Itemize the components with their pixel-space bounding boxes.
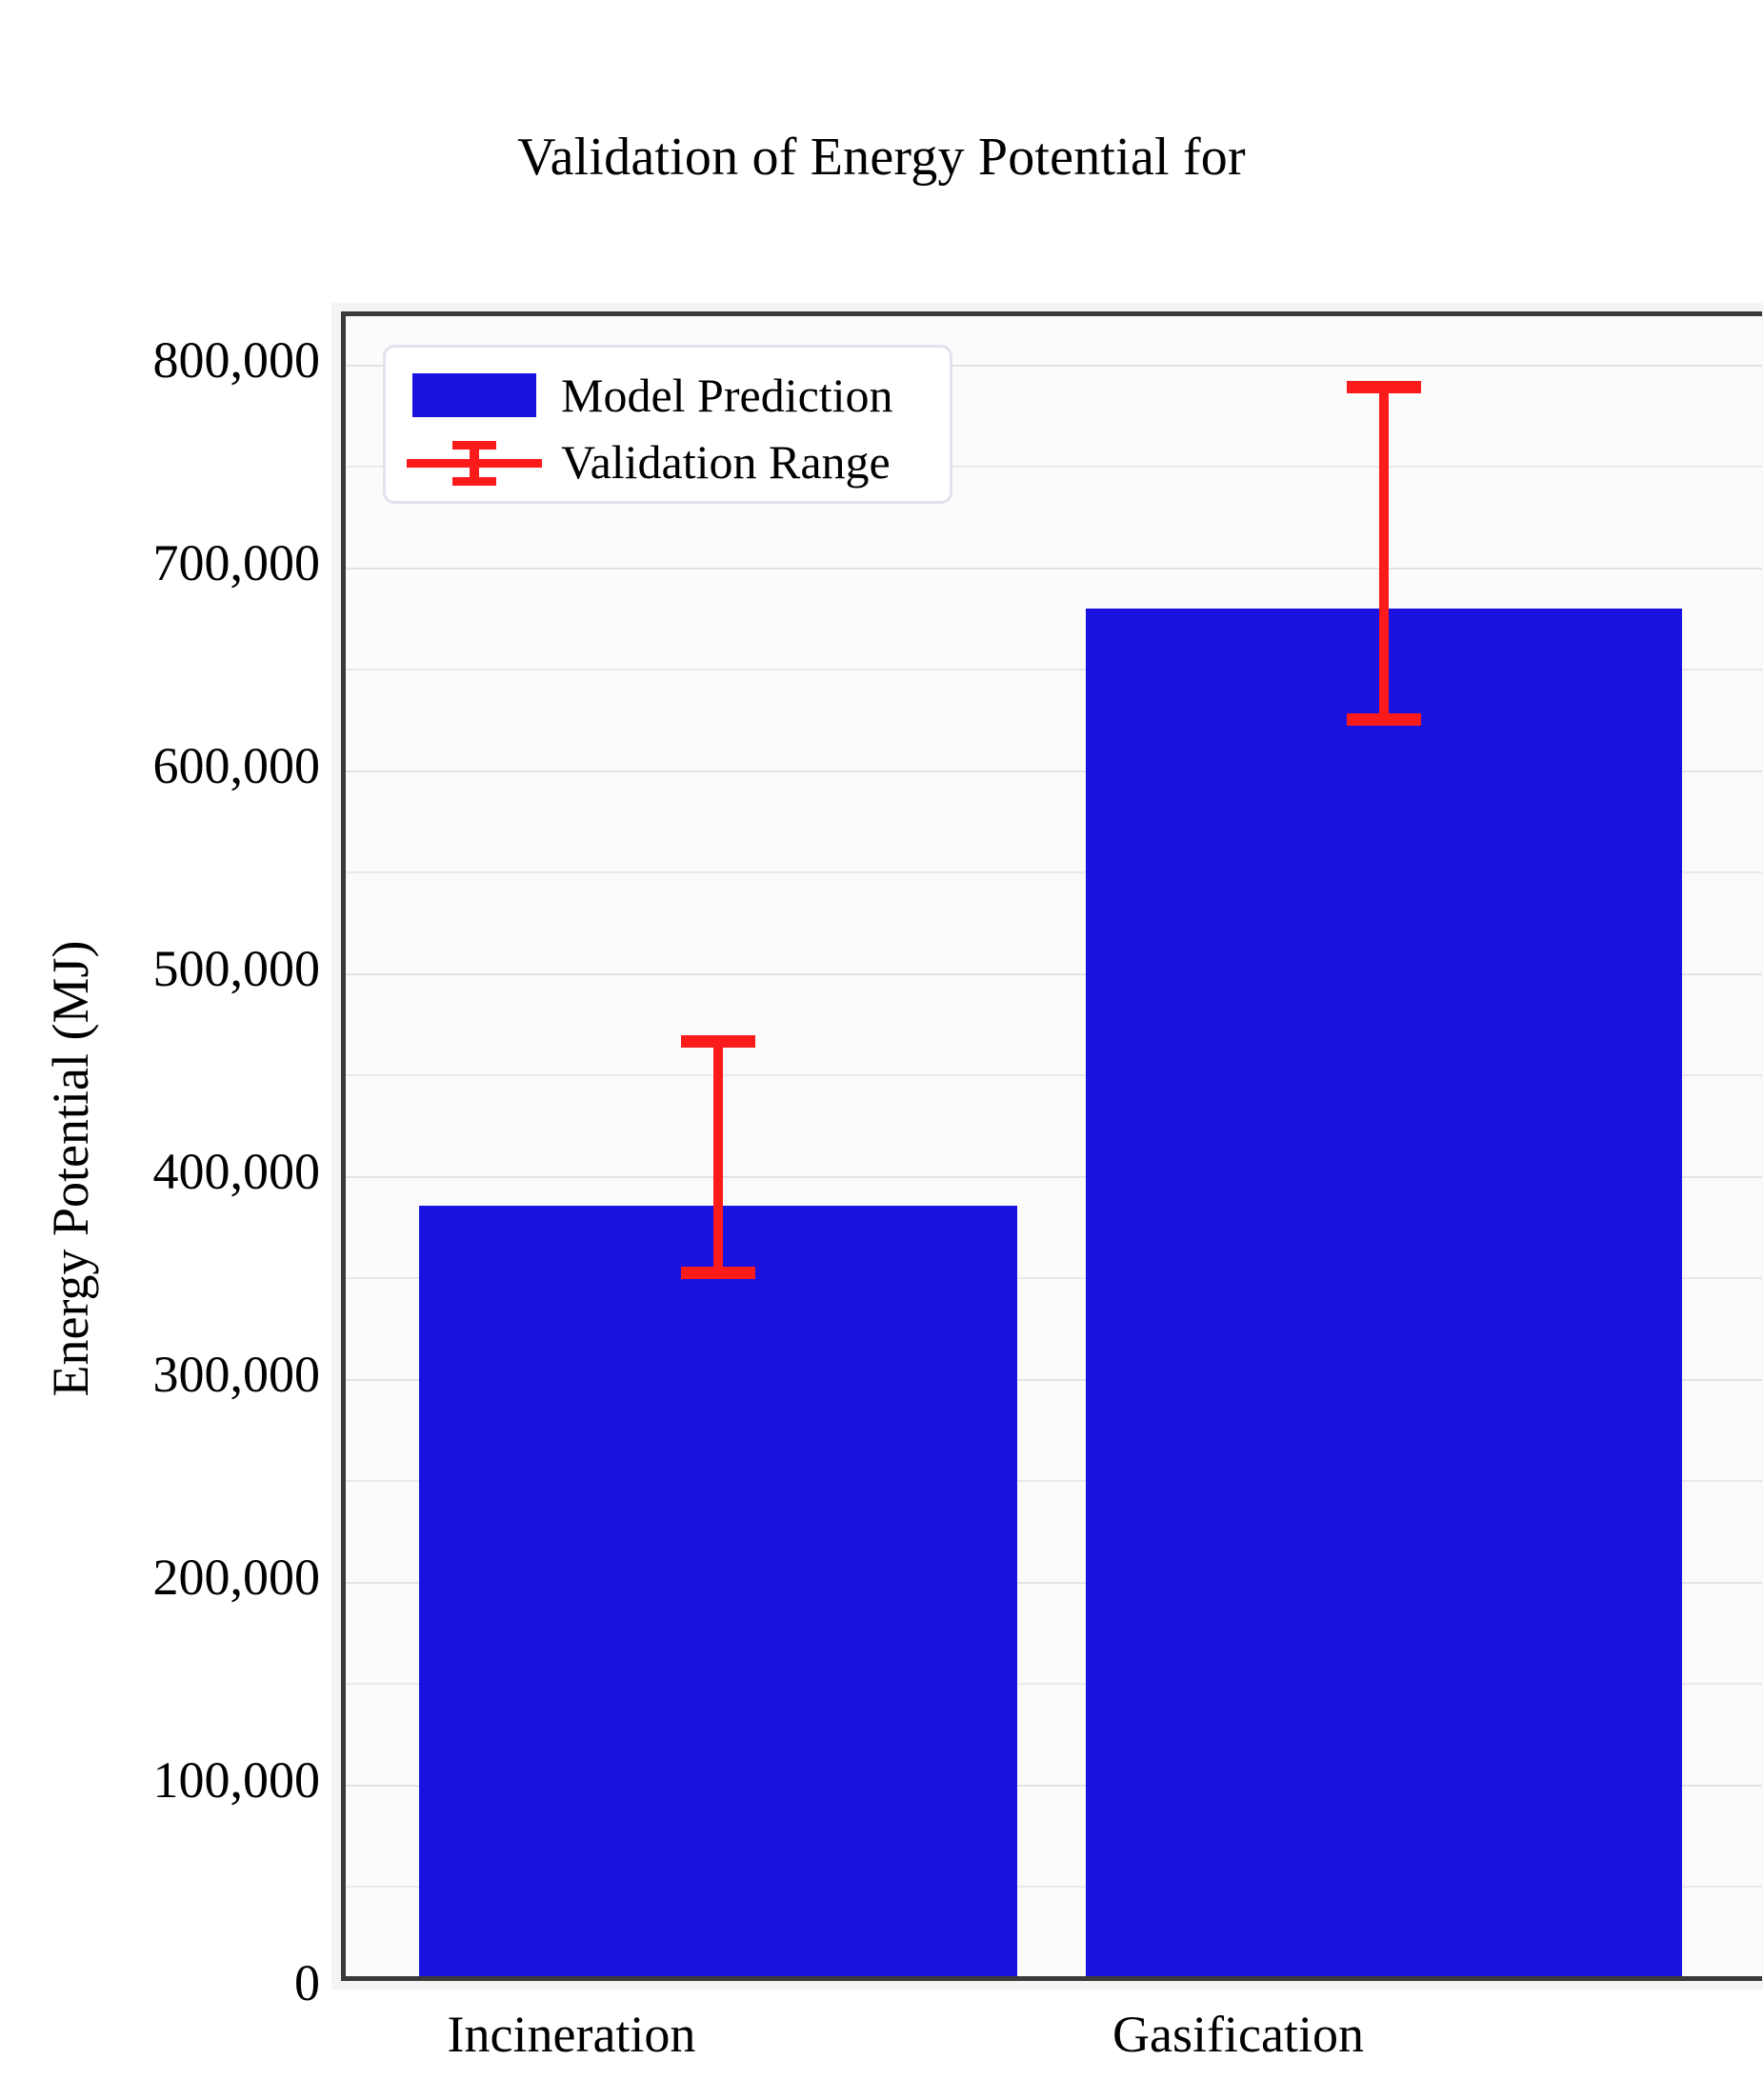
legend-swatch-wrap — [386, 431, 561, 492]
y-tick-label-800000: 800,000 — [34, 334, 320, 386]
legend-item-validation-range[interactable]: Validation Range — [386, 431, 950, 492]
bar-swatch-icon — [412, 373, 536, 417]
chart-title-line-1: Validation of Energy Potential for — [517, 128, 1246, 187]
error-bar-incineration — [419, 1035, 1017, 1279]
legend-item-model-prediction[interactable]: Model Prediction — [386, 365, 950, 426]
error-bar-cap-upper — [681, 1035, 755, 1048]
y-tick-label-500000: 500,000 — [34, 943, 320, 994]
error-bars — [346, 316, 1762, 1976]
legend-label-model-prediction: Model Prediction — [561, 369, 893, 422]
y-tick-label-700000: 700,000 — [34, 537, 320, 589]
legend-label-validation-range: Validation Range — [561, 435, 891, 489]
y-tick-label-100000: 100,000 — [34, 1754, 320, 1806]
y-tick-label-200000: 200,000 — [34, 1551, 320, 1603]
y-tick-label-300000: 300,000 — [34, 1349, 320, 1400]
error-bar-cap-lower — [1347, 713, 1421, 726]
error-bar-stem — [1379, 381, 1389, 726]
plot-area: Model Prediction Validation Range — [341, 311, 1762, 1981]
x-tick-label-gasification: Gasification — [981, 2006, 1495, 2063]
errorbar-cap-upper-icon — [452, 441, 496, 450]
chart-figure: Validation of Energy Potential for Incin… — [0, 0, 1763, 2100]
error-bar-cap-lower — [681, 1267, 755, 1279]
errorbar-cap-lower-icon — [452, 477, 496, 486]
y-tick-label-0: 0 — [34, 1957, 320, 2009]
legend[interactable]: Model Prediction Validation Range — [383, 345, 952, 504]
error-bar-stem — [713, 1035, 723, 1279]
legend-swatch-wrap — [386, 365, 561, 426]
y-tick-label-400000: 400,000 — [34, 1146, 320, 1197]
error-bar-cap-upper — [1347, 381, 1421, 393]
y-tick-label-600000: 600,000 — [34, 740, 320, 791]
error-bar-gasification — [1086, 381, 1682, 726]
x-tick-label-incineration: Incineration — [314, 2006, 829, 2063]
